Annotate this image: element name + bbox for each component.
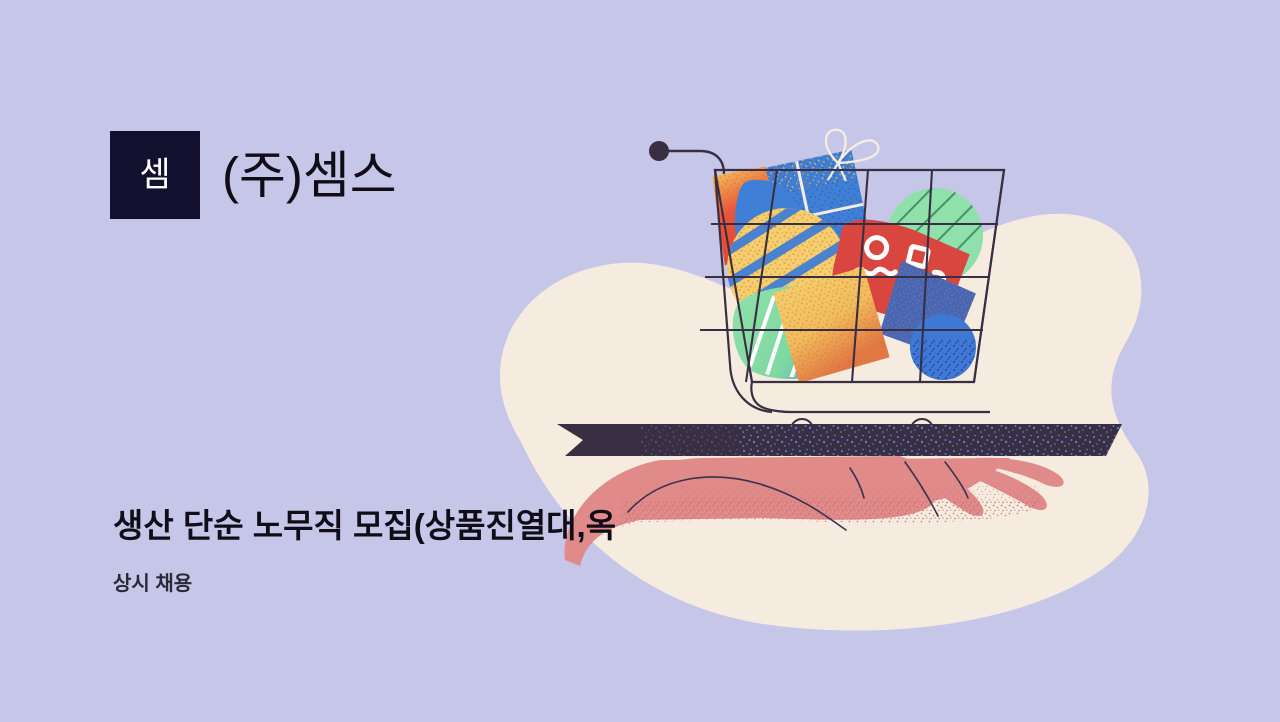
company-logo-mark: 셈	[110, 131, 200, 219]
hand-holding-shelf	[565, 456, 1064, 566]
cart-left-post	[715, 170, 772, 412]
circle-blue-speckled	[910, 314, 980, 385]
cart-wheel-right	[910, 419, 934, 432]
job-title: 생산 단순 노무직 모집(상품진열대,옥	[113, 505, 616, 546]
blob-green-white-stripes	[733, 280, 890, 390]
circle-green-hatched	[885, 180, 984, 290]
job-posting-card: 셈 (주)셈스 생산 단순 노무직 모집(상품진열대,옥 상시 채용	[0, 0, 1280, 722]
logo-text: 셈	[139, 158, 170, 192]
company-header: 셈 (주)셈스	[110, 130, 397, 220]
background-fill	[0, 0, 1280, 722]
shopping-cart-illustration	[0, 0, 1280, 722]
cart-contents	[712, 130, 984, 390]
ball-yellow-blue-stripes	[720, 186, 858, 340]
finger-2	[938, 458, 1047, 510]
company-name: (주)셈스	[222, 150, 397, 201]
package-blue-rounded	[735, 180, 800, 269]
gift-box-blue-with-bow	[742, 130, 879, 283]
gift-bow	[826, 130, 878, 163]
package-blue-speckled	[877, 260, 979, 362]
finger-1	[900, 458, 983, 516]
square-yellow-orange-gradient	[773, 267, 889, 383]
cart-basket-outline	[715, 170, 1004, 382]
cart-wheel-left	[790, 419, 814, 432]
employment-type-label: 상시 채용	[113, 572, 192, 597]
cream-blob	[500, 214, 1149, 631]
finger-3	[972, 458, 1064, 487]
cart-handle-knob	[649, 141, 669, 161]
cart-handle-bar	[669, 151, 724, 186]
package-red-white-doodles	[823, 212, 972, 334]
shelf-plank	[557, 420, 1140, 460]
package-red-orange-speckled	[712, 166, 784, 265]
cart-lower-frame	[724, 186, 990, 412]
cart-basket-grid	[700, 170, 1004, 382]
